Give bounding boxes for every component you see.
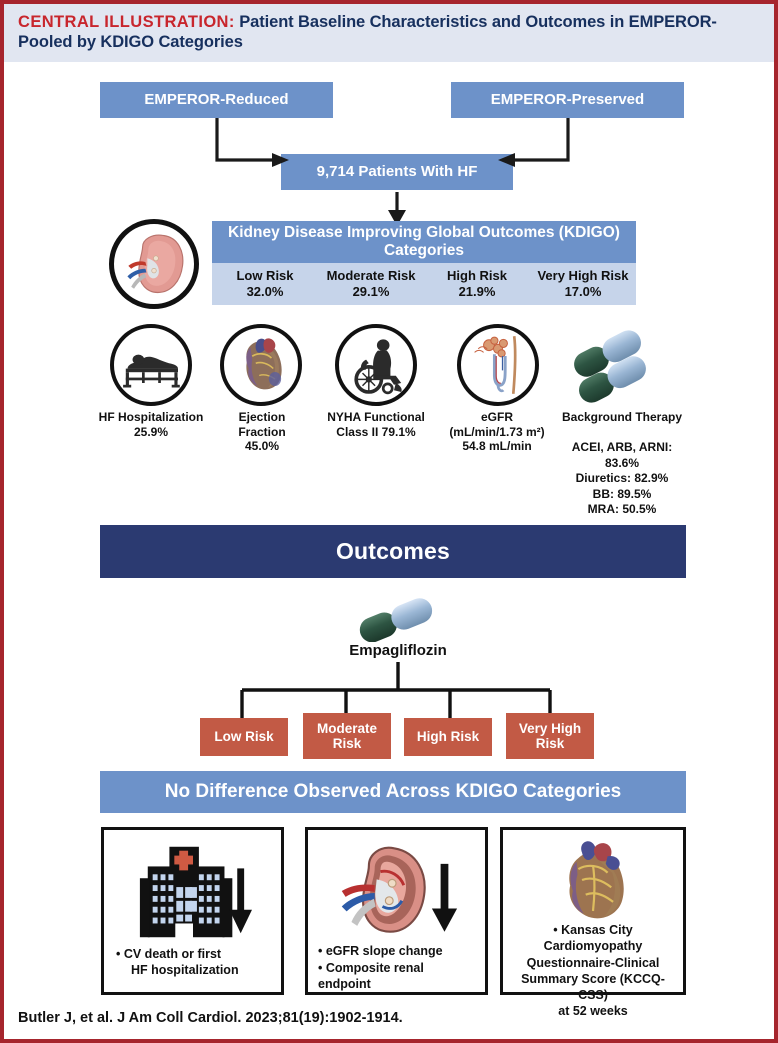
kdigo-cell-low: Low Risk 32.0% — [212, 268, 318, 299]
bt-bb: BB: 89.5% — [552, 487, 692, 503]
capsules-illustration — [560, 324, 660, 406]
risk-high-line1: High Risk — [417, 729, 479, 744]
heart-illustration — [226, 330, 296, 400]
outcomes-banner-label: Outcomes — [336, 538, 450, 565]
kdigo-label-moderate: Moderate Risk — [318, 268, 424, 284]
trial-left-label: EMPEROR-Reduced — [144, 91, 288, 108]
flow-connectors — [94, 116, 694, 226]
capsule-icon — [350, 598, 446, 642]
metric-label-hf-hospitalization: HF Hospitalization 25.9% — [96, 410, 206, 439]
outcomes-banner: Outcomes — [100, 525, 686, 578]
hospital-building-icon — [134, 842, 252, 942]
outcome-box-egfr: • eGFR slope change • Composite renal en… — [305, 827, 488, 995]
risk-moderate-line2: Risk — [317, 736, 377, 751]
risk-box-high: High Risk — [404, 718, 492, 756]
kdigo-value-high: 21.9% — [424, 284, 530, 300]
central-illustration-label: CENTRAL ILLUSTRATION: — [18, 13, 235, 31]
metric-bt-line1: Background Therapy — [552, 410, 692, 425]
outcome-box2-line1: • eGFR slope change — [318, 943, 479, 959]
outcome-box3-line4: at 52 weeks — [507, 1003, 679, 1019]
hospital-bed-icon — [110, 324, 192, 406]
kidney-icon — [109, 219, 199, 309]
metric-egfr-line1: eGFR — [438, 410, 556, 425]
central-illustration-figure: CENTRAL ILLUSTRATION: Patient Baseline C… — [0, 0, 778, 1043]
outcome-box3-text: • Kansas City Cardiomyopathy Questionnai… — [503, 922, 683, 1020]
trial-box-emperor-reduced: EMPEROR-Reduced — [100, 82, 333, 118]
no-difference-banner: No Difference Observed Across KDIGO Cate… — [100, 771, 686, 813]
bed-patient-illustration — [115, 329, 187, 401]
metric-label-nyha-class: NYHA Functional Class II 79.1% — [322, 410, 430, 439]
outcome-box3-line1: • Kansas City Cardiomyopathy — [507, 922, 679, 955]
bt-acei: ACEI, ARB, ARNI: — [552, 440, 692, 456]
kdigo-cell-moderate: Moderate Risk 29.1% — [318, 268, 424, 299]
risk-box-moderate: Moderate Risk — [303, 713, 391, 759]
page-title: CENTRAL ILLUSTRATION: Patient Baseline C… — [18, 12, 760, 52]
outcome-box2-text: • eGFR slope change • Composite renal en… — [308, 943, 485, 992]
kdigo-cell-high: High Risk 21.9% — [424, 268, 530, 299]
kdigo-value-very-high: 17.0% — [530, 284, 636, 300]
background-therapy-values: ACEI, ARB, ARNI: 83.6% Diuretics: 82.9% … — [552, 440, 692, 518]
trial-right-label: EMPEROR-Preserved — [491, 91, 644, 108]
nephron-illustration — [462, 329, 534, 401]
outcome-box2-line2: • Composite renal endpoint — [318, 960, 479, 993]
empagliflozin-label: Empagliflozin — [349, 642, 447, 659]
kdigo-label-low: Low Risk — [212, 268, 318, 284]
outcome-box-cv-death: • CV death or first HF hospitalization — [101, 827, 284, 995]
heart-icon — [220, 324, 302, 406]
empagliflozin-capsule — [350, 598, 446, 642]
heart-icon — [545, 838, 641, 922]
metric-egfr-line3: 54.8 mL/min — [438, 439, 556, 454]
metric-label-egfr: eGFR (mL/min/1.73 m²) 54.8 mL/min — [438, 410, 556, 454]
risk-box-very-high: Very High Risk — [506, 713, 594, 759]
drug-label: Empagliflozin — [310, 642, 486, 659]
outcome-box-kccq: • Kansas City Cardiomyopathy Questionnai… — [500, 827, 686, 995]
no-difference-label: No Difference Observed Across KDIGO Cate… — [165, 781, 622, 803]
citation-text: Butler J, et al. J Am Coll Cardiol. 2023… — [18, 1010, 403, 1026]
metric-ef-line1: Ejection — [216, 410, 308, 425]
down-arrow-icon — [229, 868, 252, 933]
trial-box-emperor-preserved: EMPEROR-Preserved — [451, 82, 684, 118]
metric-ef-line2: Fraction — [216, 425, 308, 440]
metric-label-ejection-fraction: Ejection Fraction 45.0% — [216, 410, 308, 454]
outcome-box1-text: • CV death or first HF hospitalization — [104, 946, 281, 979]
kidney-icon — [334, 841, 460, 941]
capsule-icon — [560, 324, 660, 406]
figure-header: CENTRAL ILLUSTRATION: Patient Baseline C… — [4, 4, 774, 62]
metric-hf-line1: HF Hospitalization — [96, 410, 206, 425]
kdigo-heading-label: Kidney Disease Improving Global Outcomes… — [218, 224, 630, 260]
kdigo-cell-very-high: Very High Risk 17.0% — [530, 268, 636, 299]
metric-nyha-line1: NYHA Functional — [322, 410, 430, 425]
kdigo-heading-bar: Kidney Disease Improving Global Outcomes… — [212, 221, 636, 263]
kdigo-label-very-high: Very High Risk — [530, 268, 636, 284]
risk-branch-connectors — [100, 662, 686, 718]
outcome-box1-line2: HF hospitalization — [116, 962, 275, 978]
risk-moderate-line1: Moderate — [317, 721, 377, 736]
kdigo-value-low: 32.0% — [212, 284, 318, 300]
metric-hf-line2: 25.9% — [96, 425, 206, 440]
bt-diuretics: Diuretics: 82.9% — [552, 471, 692, 487]
bt-mra: MRA: 50.5% — [552, 502, 692, 518]
outcome-box1-line1: • CV death or first — [116, 946, 275, 962]
kidney-illustration — [116, 226, 192, 302]
kdigo-categories-band: Low Risk 32.0% Moderate Risk 29.1% High … — [212, 263, 636, 305]
outcome-box3-line2: Questionnaire-Clinical — [507, 955, 679, 971]
kdigo-value-moderate: 29.1% — [318, 284, 424, 300]
wheelchair-icon — [335, 324, 417, 406]
wheelchair-illustration — [340, 329, 412, 401]
risk-box-low: Low Risk — [200, 718, 288, 756]
risk-very-high-line1: Very High — [519, 721, 581, 736]
risk-very-high-line2: Risk — [519, 736, 581, 751]
outcome-box3-line3: Summary Score (KCCQ-CSS) — [507, 971, 679, 1004]
metric-nyha-line2: Class II 79.1% — [322, 425, 430, 440]
down-arrow-icon — [431, 863, 456, 931]
metric-label-background-therapy: Background Therapy — [552, 410, 692, 425]
bt-acei-value: 83.6% — [552, 456, 692, 472]
metric-egfr-line2: (mL/min/1.73 m²) — [438, 425, 556, 440]
nephron-icon — [457, 324, 539, 406]
kdigo-label-high: High Risk — [424, 268, 530, 284]
risk-low-line1: Low Risk — [214, 729, 273, 744]
metric-ef-line3: 45.0% — [216, 439, 308, 454]
